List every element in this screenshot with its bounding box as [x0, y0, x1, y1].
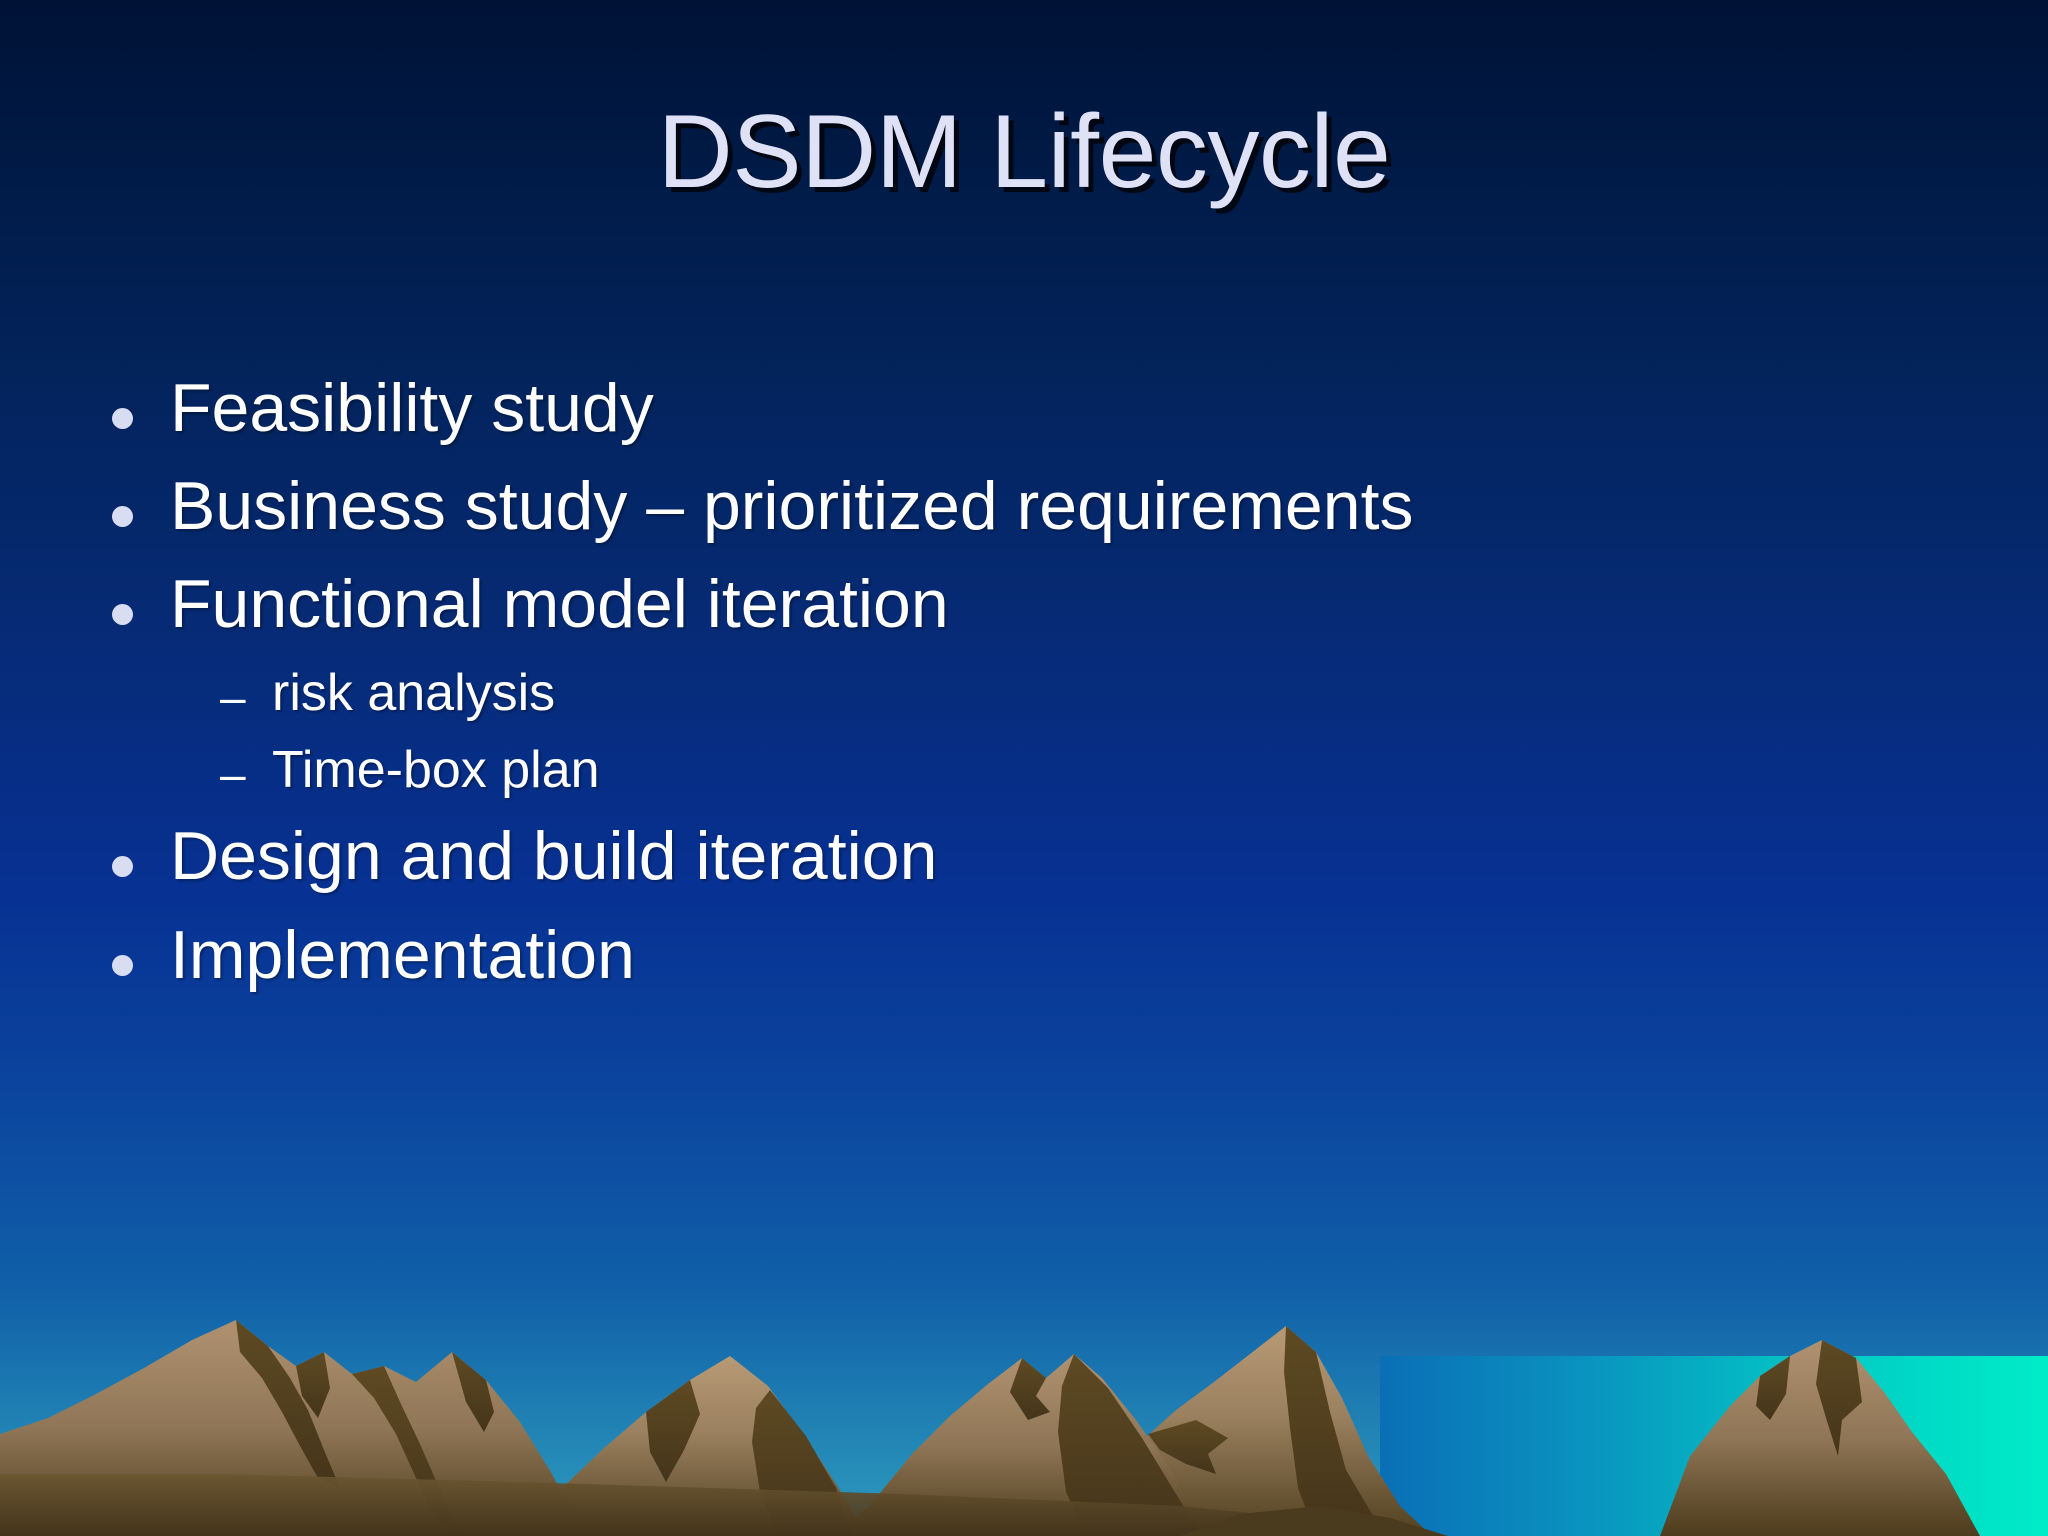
- dash-marker-icon: –: [220, 743, 272, 797]
- list-item: Business study – prioritized requirement…: [112, 470, 1962, 542]
- list-item-label: Feasibility study: [170, 372, 1962, 444]
- mountain-scenery-graphic: [0, 1206, 2048, 1536]
- bullet-dot-icon: [112, 372, 170, 440]
- body-placeholder: Feasibility study Business study – prior…: [112, 372, 1962, 1017]
- list-item-label: Implementation: [170, 919, 1962, 991]
- bullet-dot-icon: [112, 820, 170, 888]
- dash-marker-icon: –: [220, 666, 272, 720]
- list-item: Feasibility study: [112, 372, 1962, 444]
- list-item-label: Functional model iteration: [170, 568, 1962, 640]
- bullet-dot-icon: [112, 568, 170, 636]
- list-item: Design and build iteration: [112, 820, 1962, 892]
- page-title: DSDM Lifecycle: [658, 96, 1391, 208]
- list-item: Implementation: [112, 919, 1962, 991]
- bullet-dot-icon: [112, 470, 170, 538]
- sub-list-item: – Time-box plan: [112, 743, 1962, 798]
- sub-list-item-label: Time-box plan: [272, 743, 1962, 798]
- presentation-slide: DSDM Lifecycle Feasibility study Busines…: [0, 0, 2048, 1536]
- list-item-label: Design and build iteration: [170, 820, 1962, 892]
- list-item: Functional model iteration: [112, 568, 1962, 640]
- sub-list-item-label: risk analysis: [272, 666, 1962, 721]
- sub-list-item: – risk analysis: [112, 666, 1962, 721]
- bullet-dot-icon: [112, 919, 170, 987]
- list-item-label: Business study – prioritized requirement…: [170, 470, 1962, 542]
- title-placeholder: DSDM Lifecycle: [0, 96, 2048, 208]
